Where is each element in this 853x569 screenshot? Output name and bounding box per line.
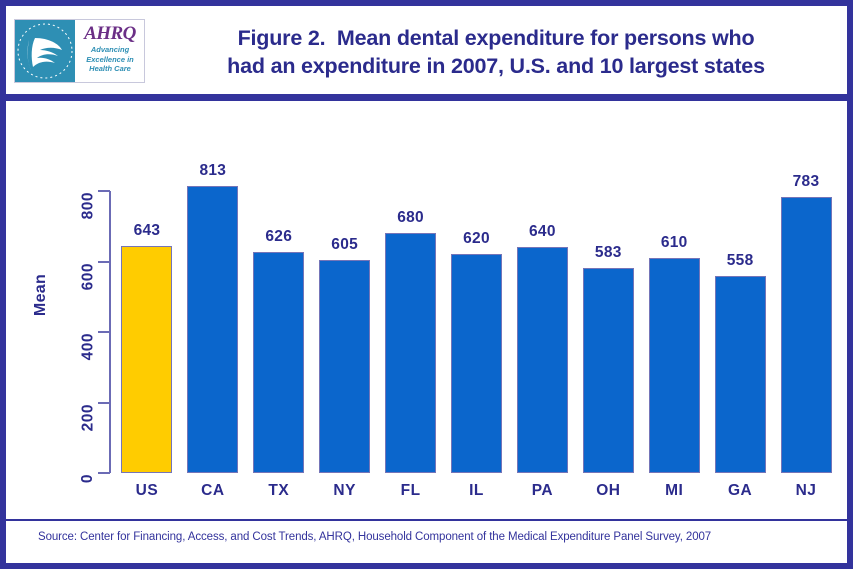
bar-mi[interactable] [649,258,700,473]
bar-group[interactable]: 643US [121,101,172,473]
y-axis-tick-label: 400 [79,333,97,360]
bar-group[interactable]: 558GA [715,101,766,473]
bar-group[interactable]: 626TX [253,101,304,473]
figure-header: AHRQ Advancing Excellence in Health Care… [6,6,847,94]
bar-value-label: 680 [369,209,452,227]
ahrq-tagline: Advancing Excellence in Health Care [78,45,142,74]
bar-value-label: 605 [303,236,386,254]
ahrq-tagline-line-2: Excellence in [78,55,142,65]
y-axis-tick-label-wrap: 0 [54,465,88,481]
figure-window: AHRQ Advancing Excellence in Health Care… [0,0,853,569]
figure-title: Figure 2. Mean dental expenditure for pe… [156,24,836,80]
ahrq-wordmark-block: AHRQ Advancing Excellence in Health Care [75,20,144,82]
bar-nj[interactable] [781,197,832,473]
figure-title-line-1: Figure 2. Mean dental expenditure for pe… [156,24,836,52]
bar-series: 643US813CA626TX605NY680FL620IL640PA583OH… [111,101,836,473]
bar-value-label: 558 [699,252,782,270]
bar-il[interactable] [451,254,502,473]
bar-group[interactable]: 813CA [187,101,238,473]
ahrq-tagline-line-1: Advancing [78,45,142,55]
footer-divider [6,519,847,521]
bar-value-label: 640 [501,223,584,241]
y-axis-tick [98,190,110,192]
bar-fl[interactable] [385,233,436,473]
bar-group[interactable]: 640PA [517,101,568,473]
bar-group[interactable]: 610MI [649,101,700,473]
y-axis-tick-label-wrap: 200 [54,395,88,411]
x-axis-category-label: NJ [761,482,852,500]
bar-group[interactable]: 620IL [451,101,502,473]
bar-group[interactable]: 605NY [319,101,370,473]
y-axis-tick [98,402,110,404]
bar-group[interactable]: 680FL [385,101,436,473]
y-axis-title: Mean [32,255,50,335]
y-axis-tick [98,331,110,333]
ahrq-wordmark: AHRQ [78,24,142,43]
bar-value-label: 783 [765,173,848,191]
ahrq-logo: AHRQ Advancing Excellence in Health Care [14,19,145,83]
bar-group[interactable]: 583OH [583,101,634,473]
ahrq-tagline-line-3: Health Care [78,64,142,74]
bar-group[interactable]: 783NJ [781,101,832,473]
source-note: Source: Center for Financing, Access, an… [38,531,828,543]
y-axis-tick-label: 0 [79,474,97,483]
bar-value-label: 813 [171,162,254,180]
y-axis-tick [98,472,110,474]
bar-ga[interactable] [715,276,766,473]
bar-oh[interactable] [583,268,634,474]
bar-tx[interactable] [253,252,304,473]
bar-pa[interactable] [517,247,568,473]
y-axis-tick-label: 800 [79,192,97,219]
bar-ny[interactable] [319,260,370,473]
bar-us[interactable] [121,246,172,473]
header-divider [6,94,847,101]
bar-chart: Mean 0200400600800 643US813CA626TX605NY6… [6,101,847,563]
y-axis-tick [98,261,110,263]
bar-ca[interactable] [187,186,238,473]
y-axis-tick-label-wrap: 600 [54,254,88,270]
hhs-seal-icon [15,20,75,82]
y-axis-tick-label: 600 [79,263,97,290]
y-axis-tick-label-wrap: 400 [54,324,88,340]
y-axis-tick-label-wrap: 800 [54,183,88,199]
bar-value-label: 643 [105,222,188,240]
figure-title-line-2: had an expenditure in 2007, U.S. and 10 … [156,52,836,80]
bar-value-label: 610 [633,234,716,252]
y-axis-tick-label: 200 [79,404,97,431]
